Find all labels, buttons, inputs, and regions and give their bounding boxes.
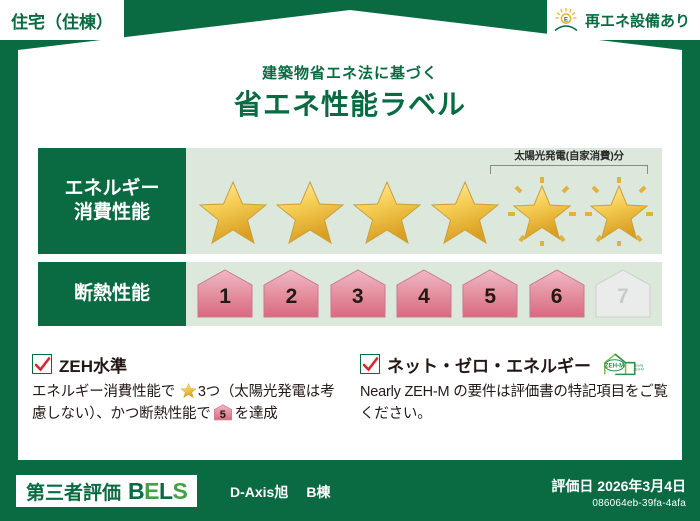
solar-note-bracket	[490, 165, 648, 174]
energy-star-rating	[194, 174, 658, 250]
insulation-performance-value: 1 2 3 4	[186, 262, 662, 326]
star-5-solar	[505, 176, 579, 248]
criterion-zeh-header: ZEH水準	[32, 352, 342, 376]
zeh-checkbox[interactable]	[32, 354, 52, 374]
star-1	[196, 176, 270, 248]
building-block: B棟	[306, 484, 330, 500]
criterion-zeh-standard: ZEH水準 エネルギー消費性能で 3つ（太陽光発電は考慮しない）、かつ断熱性能で…	[32, 352, 342, 426]
bels-letter-b: B	[128, 478, 144, 504]
star-sparkle-icon	[505, 176, 579, 248]
star-icon	[180, 382, 197, 399]
evaluation-date-label: 評価日	[551, 478, 593, 494]
insulation-level-4: 4	[393, 268, 455, 320]
renewable-equipment-badge: E 再エネ設備あり	[547, 0, 700, 40]
insulation-level-5-number: 5	[459, 285, 521, 309]
bels-letter-e: E	[144, 478, 159, 504]
insulation-performance-row: 断熱性能 1 2	[38, 262, 662, 326]
insulation-level-5: 5	[459, 268, 521, 320]
record-id: 086064eb-39fa-4afa	[551, 498, 686, 509]
bels-wordmark: BELS	[128, 478, 187, 505]
insulation-level-4-number: 4	[393, 285, 455, 309]
building-type-label: 住宅（住棟）	[11, 8, 113, 33]
energy-performance-key: エネルギー 消費性能	[38, 148, 186, 254]
nze-description: Nearly ZEH-M の要件は評価書の特記項目をご覧ください。	[360, 382, 676, 426]
criterion-nze-header: ネット・ゼロ・エネルギー ZEH-M Nearly ZEH-M	[360, 352, 676, 376]
evaluation-info: 評価日 2026年3月4日 086064eb-39fa-4afa	[551, 476, 686, 509]
check-icon	[362, 356, 379, 373]
zeh-title: ZEH水準	[59, 352, 127, 377]
star-icon	[428, 176, 502, 248]
insulation-level-1: 1	[194, 268, 256, 320]
evaluation-date-value: 2026年3月4日	[597, 478, 686, 494]
insulation-level-6: 6	[526, 268, 588, 320]
insulation-level-7: 7	[592, 268, 654, 320]
star-6-solar	[582, 176, 656, 248]
zeh-desc-post: を達成	[235, 406, 278, 422]
insulation-level-scale: 1 2 3 4	[192, 266, 656, 322]
insulation-performance-key: 断熱性能	[38, 262, 186, 326]
nze-checkbox[interactable]	[360, 354, 380, 374]
building-name-group: D-Axis旭B棟	[230, 482, 330, 502]
insulation-level-3-number: 3	[327, 285, 389, 309]
star-icon	[350, 176, 424, 248]
check-icon	[34, 356, 51, 373]
solar-sun-icon: E	[553, 7, 579, 33]
insulation-level-7-number: 7	[592, 285, 654, 309]
energy-performance-value: 太陽光発電(自家消費)分	[186, 148, 662, 254]
star-icon	[196, 176, 270, 248]
star-4	[428, 176, 502, 248]
insulation-key-label: 断熱性能	[74, 282, 150, 306]
bels-letter-l: L	[159, 478, 173, 504]
zeh-description: エネルギー消費性能で 3つ（太陽光発電は考慮しない）、かつ断熱性能で 5 を達成	[32, 382, 342, 426]
bels-prefix-label: 第三者評価	[26, 478, 121, 505]
star-sparkle-icon	[582, 176, 656, 248]
criterion-net-zero-energy: ネット・ゼロ・エネルギー ZEH-M Nearly ZEH-M Nearly Z…	[360, 352, 676, 426]
nze-title: ネット・ゼロ・エネルギー	[387, 352, 591, 377]
bels-letter-s: S	[173, 478, 188, 504]
energy-key-line1: エネルギー	[64, 177, 159, 201]
bels-certification-chip: 第三者評価 BELS	[16, 475, 197, 507]
energy-key-line2: 消費性能	[74, 201, 150, 225]
star-icon	[273, 176, 347, 248]
energy-performance-row: エネルギー 消費性能 太陽光発電(自家消費)分	[38, 148, 662, 254]
svg-text:E: E	[564, 18, 568, 24]
insulation-level-2: 2	[260, 268, 322, 320]
label-subtitle: 建築物省エネ法に基づく	[0, 62, 700, 83]
zeh-m-house-logo: ZEH-M Nearly ZEH-M	[602, 351, 644, 377]
building-name: D-Axis旭	[230, 484, 288, 500]
energy-performance-label: 住宅（住棟） E 再エネ設備あり 建築物省エネ法に基づく 省エネ性能ラベル エネ…	[0, 0, 700, 521]
svg-text:ZEH-M: ZEH-M	[633, 368, 644, 372]
star-3	[350, 176, 424, 248]
zeh-desc-pre: エネルギー消費性能で	[32, 384, 175, 400]
insulation-level-3: 3	[327, 268, 389, 320]
building-type-chip: 住宅（住棟）	[0, 0, 124, 40]
renewable-badge-label: 再エネ設備あり	[585, 10, 690, 31]
svg-text:ZEH-M: ZEH-M	[605, 363, 625, 370]
solar-note-label: 太陽光発電(自家消費)分	[480, 150, 658, 163]
label-title: 省エネ性能ラベル	[0, 83, 700, 123]
inline-house-number: 5	[213, 407, 233, 424]
evaluation-date-line: 評価日 2026年3月4日	[551, 476, 686, 496]
insulation-level-2-number: 2	[260, 285, 322, 309]
insulation-level-1-number: 1	[194, 285, 256, 309]
star-2	[273, 176, 347, 248]
inline-house-badge: 5	[213, 404, 233, 421]
insulation-level-6-number: 6	[526, 285, 588, 309]
